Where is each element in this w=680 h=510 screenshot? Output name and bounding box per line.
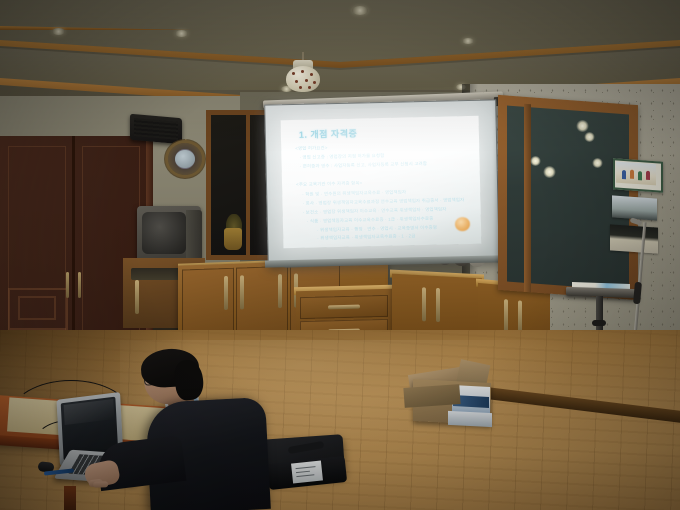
glass-reflection (576, 120, 589, 132)
glass-reflection (584, 132, 595, 142)
small-white-box (448, 411, 492, 427)
downlight-icon (52, 28, 65, 35)
cart-height-knob-upper[interactable] (592, 320, 606, 326)
speaker-grill (134, 118, 178, 140)
photo-print-lower (610, 224, 658, 253)
tv-screen (142, 212, 186, 254)
window-back-mullion (246, 110, 250, 260)
drawer-handle-upper[interactable] (328, 305, 360, 310)
plant-vase (224, 228, 242, 250)
door-handle-left[interactable] (66, 272, 69, 298)
room-photo-scene: 1. 개점 자격증 <영업 허가요건> · 영업 신고증 : 영업장의 지점 허… (0, 0, 680, 510)
screen-border (264, 99, 500, 266)
clock-face (175, 150, 195, 168)
door-handle-right[interactable] (78, 272, 81, 298)
pendant-lamp-globe (286, 66, 320, 92)
tv-side-panel (186, 210, 202, 260)
window-right-mullion (524, 104, 531, 293)
table-leg (64, 486, 76, 510)
glass-reflection (530, 156, 541, 166)
downlight-icon (175, 30, 188, 37)
downlight-icon (352, 6, 368, 15)
box-flap-front (403, 384, 460, 408)
door-fretwork-pattern-inner (18, 296, 56, 320)
glass-reflection (592, 158, 603, 168)
glass-reflection (543, 166, 556, 178)
photo-print-upper (612, 195, 657, 220)
framed-picture-art (616, 162, 656, 186)
downlight-icon (462, 38, 474, 44)
bag-paper-tag (291, 460, 323, 483)
